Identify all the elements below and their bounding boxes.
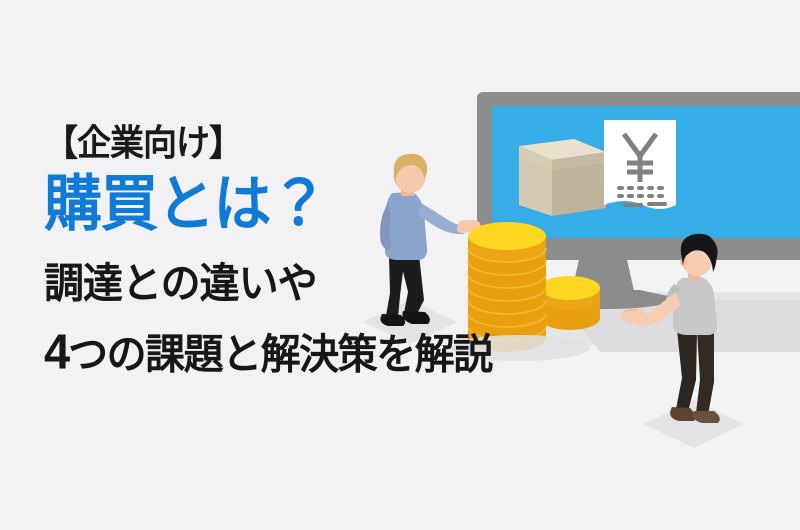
page-title-keyword: 購買 <box>44 170 157 238</box>
subheadline-line-2: 4つの課題と解決策を解説 <box>44 325 584 379</box>
subheadline-line-2-rest: つの課題と解決策を解説 <box>68 332 492 378</box>
page-title: 購買とは？ <box>44 172 584 238</box>
tshirt <box>673 277 717 335</box>
subheadline-line-1: 調達との違いや <box>44 261 584 307</box>
thumbnail-canvas: 【企業向け】 購買とは？ 調達との違いや 4つの課題と解決策を解説 <box>0 0 800 530</box>
headline-text-block: 【企業向け】 購買とは？ 調達との違いや 4つの課題と解決策を解説 <box>44 122 584 376</box>
issue-count-number: 4 <box>44 324 68 379</box>
page-title-rest: とは？ <box>157 170 327 238</box>
invoice-document <box>604 120 676 209</box>
eyebrow-label: 【企業向け】 <box>44 122 584 165</box>
person-right-platform <box>644 400 744 448</box>
